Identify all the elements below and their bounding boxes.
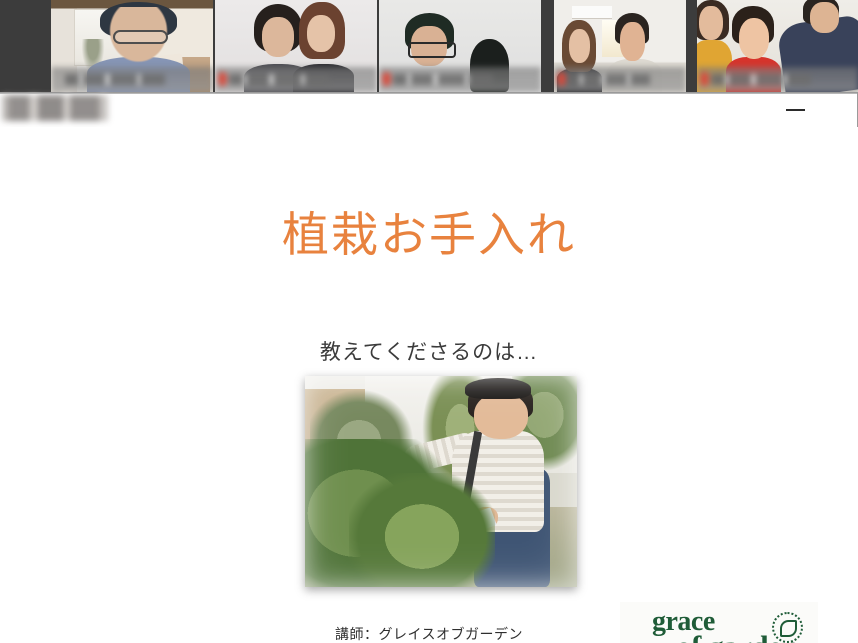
participant-name-text-3 <box>393 74 493 85</box>
slide-subtitle: 教えてくださるのは… <box>0 336 858 366</box>
presentation-window: 植栽お手入れ 教えてくださるのは… <box>0 92 858 643</box>
slide-title: 植栽お手入れ <box>0 211 858 258</box>
video-conference-filmstrip <box>0 0 858 92</box>
slide-canvas: 植栽お手入れ 教えてくださるのは… <box>0 127 858 643</box>
window-title-bar[interactable] <box>0 93 858 127</box>
mic-muted-icon-3 <box>382 72 391 86</box>
wreath-monogram-emblem-icon <box>772 612 803 643</box>
minimize-button[interactable] <box>774 93 818 127</box>
participant-tile-1[interactable] <box>51 0 213 92</box>
participant-name-text-5 <box>711 74 811 85</box>
grace-of-garden-logo: grace of garden <box>620 602 818 643</box>
participant-name-label-2 <box>215 67 377 92</box>
mic-muted-icon-2 <box>218 72 227 86</box>
instructor-photo <box>305 376 577 587</box>
participant-tile-4[interactable] <box>554 0 686 92</box>
screen: 植栽お手入れ 教えてくださるのは… <box>0 0 858 643</box>
participant-name-label-3 <box>379 67 541 92</box>
participant-name-label-1 <box>51 67 213 92</box>
mic-muted-icon-5 <box>700 72 709 86</box>
participant-name-text-1 <box>65 74 165 85</box>
minimize-icon <box>786 109 805 111</box>
mic-muted-icon-4 <box>557 72 566 86</box>
participant-name-label-5 <box>697 67 858 92</box>
participant-tile-5[interactable] <box>697 0 858 92</box>
participant-name-text-2 <box>229 74 329 85</box>
participant-tile-2[interactable] <box>215 0 377 92</box>
participant-name-text-4 <box>568 74 650 85</box>
participant-tile-3[interactable] <box>379 0 541 92</box>
participant-name-label-4 <box>554 67 686 92</box>
window-title-text <box>2 95 108 121</box>
